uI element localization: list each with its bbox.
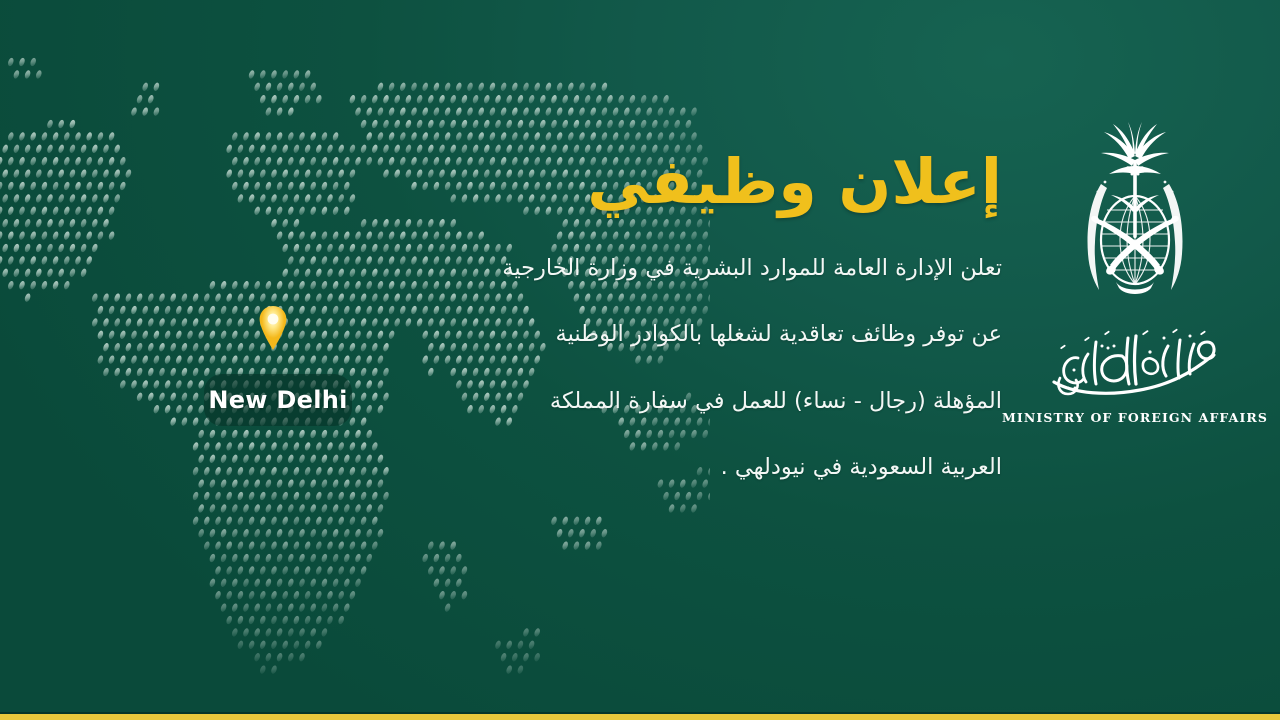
ministry-name-english: MINISTRY OF FOREIGN AFFAIRS	[1002, 410, 1268, 425]
saudi-emblem-palm-swords-globe-icon	[1060, 122, 1210, 322]
city-label-text: New Delhi	[208, 386, 347, 414]
body-line: عن توفر وظائف تعاقدية لشغلها بالكوادر ال…	[492, 322, 1002, 346]
bottom-gold-rule	[0, 714, 1280, 720]
body-line: تعلن الإدارة العامة للموارد البشرية في و…	[492, 256, 1002, 280]
city-label-pill: New Delhi	[204, 374, 352, 426]
page-title: إعلان وظيفي	[492, 148, 1002, 216]
poster-canvas: New Delhi إعلان وظيفي تعلن الإدارة العام…	[0, 0, 1280, 720]
map-pin-icon	[258, 305, 288, 351]
ministry-name-arabic-wordmark	[1044, 326, 1226, 408]
announcement-content: إعلان وظيفي تعلن الإدارة العامة للموارد …	[492, 148, 1002, 479]
body-line: العربية السعودية في نيودلهي .	[492, 455, 1002, 479]
body-line: المؤهلة (رجال - نساء) للعمل في سفارة الم…	[492, 389, 1002, 413]
ministry-logo: MINISTRY OF FOREIGN AFFAIRS	[1020, 122, 1250, 462]
announcement-body: تعلن الإدارة العامة للموارد البشرية في و…	[492, 256, 1002, 479]
